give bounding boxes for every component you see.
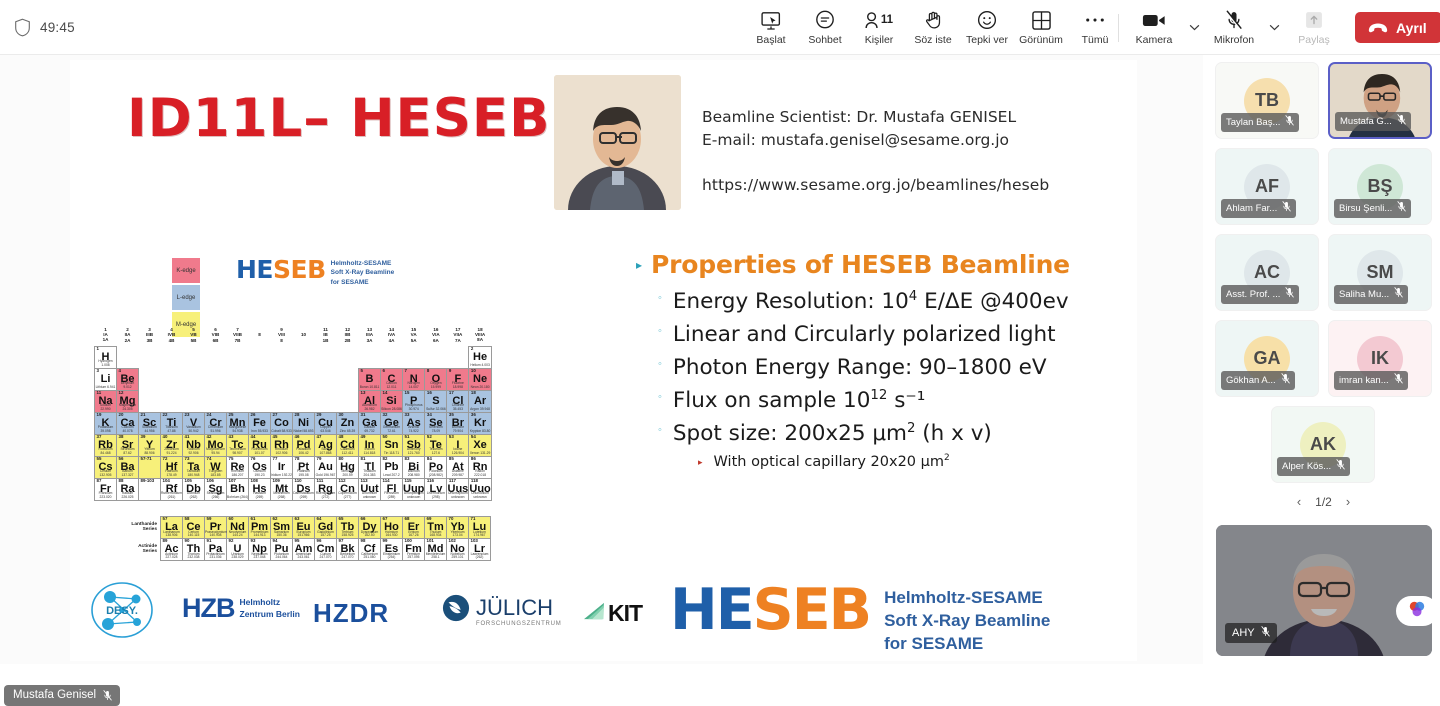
microphone-muted-icon	[1285, 287, 1294, 301]
element-Nb: 41NbNiobium 92.906	[183, 434, 205, 456]
participant-tile[interactable]: GAGökhan A...	[1215, 320, 1319, 397]
atomic-number: 103	[471, 539, 478, 543]
element-Es: 99EsEinsteinium (254)	[381, 539, 403, 561]
periodic-empty-cell	[403, 346, 425, 368]
element-name-mass: Cobalt 58.933	[271, 430, 292, 433]
circle-bullet-icon: ◦	[658, 354, 662, 375]
group-header: 11IB1B	[315, 324, 337, 346]
element-name-mass: Titanium 47.88	[161, 426, 182, 433]
microphone-label: Mikrofon	[1214, 34, 1254, 46]
element-Lu: 71LuLutetium 174.967	[469, 517, 491, 539]
element-P: 15PPhosphorus 30.974	[403, 390, 425, 412]
element-Db: 105DbDubnium (262)	[183, 478, 205, 500]
element-name-mass: Thorium 232.038	[183, 553, 204, 560]
element-Fr: 87FrFrancium 223.020	[95, 478, 117, 500]
atomic-number: 108	[251, 479, 258, 483]
kit-text: KIT	[608, 600, 642, 627]
grid-layout-icon	[1032, 10, 1051, 31]
element-name-mass: Uranium 238.029	[227, 553, 248, 560]
element-Y: 39YYttrium 88.906	[139, 434, 161, 456]
microphone-muted-icon	[1225, 10, 1243, 31]
raise-hand-button[interactable]: Söz iste	[906, 0, 960, 55]
element-name-mass: Holmium 164.930	[381, 531, 402, 538]
atomic-number: 75	[229, 457, 234, 461]
atomic-number: 60	[229, 517, 234, 521]
desy-logo: DESY.	[90, 581, 154, 639]
element-name-mass: Palladium 106.42	[293, 448, 314, 455]
hzdr-logo: HZDR	[313, 598, 389, 629]
element-Kr: 36KrKrypton 83.80	[469, 412, 491, 434]
element-Ac: 89AcActinium 227.028	[161, 539, 183, 561]
element-Hg: 80HgMercury 200.59	[337, 456, 359, 478]
view-button[interactable]: Görünüm	[1014, 0, 1068, 55]
element-At: 85AtAstatine 209.987	[447, 456, 469, 478]
element-name-mass: Copper 63.546	[315, 426, 336, 433]
element-name-mass: Curium 247.070	[315, 553, 336, 560]
element-name-mass: Praseodymium 140.908	[205, 531, 226, 538]
contact-line-1: Beamline Scientist: Dr. Mustafa GENISEL	[702, 106, 1122, 129]
element-name-mass: Chlorine 35.453	[447, 404, 468, 411]
element-name-mass: Dysprosium 162.50	[359, 531, 380, 538]
atomic-number: 47	[317, 435, 322, 439]
element-name-mass: Neptunium 237.048	[249, 553, 270, 560]
periodic-empty-cell	[227, 368, 249, 390]
element-name-mass: Phosphorus 30.974	[403, 404, 424, 411]
atomic-number: 34	[427, 413, 432, 417]
atomic-number: 6	[383, 369, 385, 373]
element-Tl: 81TlThallium 204.383	[359, 456, 381, 478]
element-symbol: S	[432, 395, 439, 407]
periodic-empty-cell	[249, 346, 271, 368]
group-header: 12IIB2B	[337, 324, 359, 346]
periodic-empty-cell	[139, 368, 161, 390]
shield-icon	[14, 18, 31, 37]
atomic-number: 39	[141, 435, 146, 439]
atomic-number: 16	[427, 391, 432, 395]
scientist-headshot-image	[554, 75, 681, 210]
ai-assistant-button[interactable]	[1396, 596, 1432, 626]
periodic-empty-cell	[337, 346, 359, 368]
atomic-number: 63	[295, 517, 300, 521]
atomic-number: 95	[295, 539, 300, 543]
atomic-number: 57	[163, 517, 168, 521]
microphone-muted-icon	[1281, 373, 1290, 387]
microphone-muted-icon	[1397, 201, 1406, 215]
circle-bullet-icon: ◦	[658, 321, 662, 342]
periodic-empty-cell	[271, 390, 293, 412]
camera-button[interactable]: Kamera	[1127, 0, 1181, 55]
element-Na: 11NaSodium 22.990	[95, 390, 117, 412]
atomic-number: 86	[471, 457, 476, 461]
atomic-number: 26	[251, 413, 256, 417]
periodic-empty-cell	[161, 390, 183, 412]
hangup-phone-icon	[1367, 20, 1389, 36]
atomic-number: 70	[449, 517, 454, 521]
lanthanide-series-label: LanthanideSeries	[120, 517, 161, 539]
heseb-logo-large: HESEB Helmholtz-SESAME Soft X-Ray Beamli…	[670, 582, 1050, 656]
element-Au: 79AuGold 196.967	[315, 456, 337, 478]
element-symbol: Fe	[253, 417, 266, 429]
element-Fl: 114FlFlerovium (289)	[381, 478, 403, 500]
element-Ag: 47AgSilver 107.868	[315, 434, 337, 456]
periodic-empty-cell	[359, 346, 381, 368]
atomic-number: 84	[427, 457, 432, 461]
element-H: 1HHydrogen 1.008	[95, 346, 117, 368]
atomic-number: 76	[251, 457, 256, 461]
element-name-mass: Promethium 144.913	[249, 531, 270, 538]
participant-tile[interactable]: AKAlper Kös...	[1271, 406, 1375, 483]
element-name-mass: Ununpentium unknown	[403, 492, 424, 499]
julich-text: JÜLICH	[476, 595, 562, 621]
element-name-mass: Scandium 44.956	[139, 426, 160, 433]
element-Mn: 25MnManganese 54.938	[227, 412, 249, 434]
share-start-label: Başlat	[756, 34, 785, 46]
element-Ge: 32GeGermanium 72.61	[381, 412, 403, 434]
element-Cm: 96CmCurium 247.070	[315, 539, 337, 561]
element-name-mass: Ruthenium 101.07	[249, 448, 270, 455]
atomic-number: 30	[339, 413, 344, 417]
element-symbol: Xe	[473, 439, 486, 451]
reactions-button[interactable]: Tepki ver	[960, 0, 1014, 55]
element-Sr: 38SrStrontium 87.62	[117, 434, 139, 456]
beamline-url[interactable]: https://www.sesame.org.jo/beamlines/hese…	[702, 174, 1122, 197]
atomic-number: 44	[251, 435, 256, 439]
atomic-number: 3	[97, 369, 99, 373]
element-Be: 4BeBeryllium 9.012	[117, 368, 139, 390]
group-header: 1IA1A	[95, 324, 117, 346]
atomic-number: 83	[405, 457, 410, 461]
self-view-tile[interactable]: AHY	[1216, 525, 1432, 656]
microphone-muted-icon	[1282, 201, 1291, 215]
atomic-number: 101	[427, 539, 434, 543]
periodic-empty-cell	[293, 368, 315, 390]
participant-name: Gökhan A...	[1226, 375, 1276, 386]
element-name-mass: Erbium 167.26	[403, 531, 424, 538]
element-Pb: 82PbLead 207.2	[381, 456, 403, 478]
atomic-number: 77	[273, 457, 278, 461]
atomic-number: 111	[317, 479, 324, 483]
element-name-mass: Barium 137.327	[117, 470, 138, 477]
atomic-number: 89-103	[141, 479, 155, 483]
element-Pa: 91PaProtactinium 231.036	[205, 539, 227, 561]
atomic-number: 115	[405, 479, 412, 483]
element-Fe: 26FeIron 55.933	[249, 412, 271, 434]
element-Hf: 72HfHafnium 178.49	[161, 456, 183, 478]
atomic-number: 71	[471, 517, 476, 521]
element-name-mass: Argon 39.948	[469, 408, 490, 411]
presentation-slide[interactable]: ID11L– HESEB Beamline Scientist: Dr. Mus…	[70, 60, 1137, 661]
presenter-name-chip: Mustafa Genisel	[4, 685, 120, 706]
element-name-mass: Helium 4.003	[469, 364, 490, 367]
element-symbol: Si	[386, 395, 396, 407]
participant-tile[interactable]: ACAsst. Prof. ...	[1215, 234, 1319, 311]
element-I: 53IIodine 126.904	[447, 434, 469, 456]
element-Cf: 98CfCalifornium 251.080	[359, 539, 381, 561]
periodic-empty-cell	[293, 390, 315, 412]
element-Am: 95AmAmericium 243.061	[293, 539, 315, 561]
element-La: 57LaLanthanum 138.906	[161, 517, 183, 539]
hzb-logo: HZB Helmholtz Zentrum Berlin	[182, 593, 300, 624]
participant-tile[interactable]: IKimran kan...	[1328, 320, 1432, 397]
periodic-empty-cell	[249, 368, 271, 390]
atomic-number: 67	[383, 517, 388, 521]
atomic-number: 19	[97, 413, 102, 417]
sub-bullet-item: ▸With optical capillary 20x20 μm2	[698, 453, 1116, 472]
element-Rh: 45RhRhodium 102.906	[271, 434, 293, 456]
element-symbol: Ne	[473, 373, 487, 385]
element-name-mass: Hydrogen 1.008	[95, 360, 116, 367]
element-Lv: 116LvLivermorium (298)	[425, 478, 447, 500]
bullet-item-text: Photon Energy Range: 90–1800 eV	[673, 354, 1047, 382]
svg-text:DESY.: DESY.	[106, 605, 138, 617]
element-Uuo: 118UuoUnunoctium unknown	[469, 478, 491, 500]
bullet-item: ◦Energy Resolution: 104 E/ΔE @400ev	[658, 288, 1116, 316]
chat-button[interactable]: Sohbet	[798, 0, 852, 55]
element-K: 19KPotassium 39.098	[95, 412, 117, 434]
element-name-mass: Osmium 190.23	[249, 470, 270, 477]
element-symbol: Sn	[384, 439, 398, 451]
slide-title: ID11L– HESEB	[127, 88, 551, 149]
element-name-mass: Lawrencium (262)	[469, 553, 490, 560]
people-icon: 11	[865, 10, 893, 31]
element-name-mass: Ytterbium 173.04	[447, 531, 468, 538]
atomic-number: 88	[119, 479, 124, 483]
element-name-mass: Rubidium 84.468	[95, 448, 116, 455]
element-name-mass: Copernicium (277)	[337, 492, 358, 499]
atomic-number: 61	[251, 517, 256, 521]
element-Ru: 44RuRuthenium 101.07	[249, 434, 271, 456]
participant-tile[interactable]: Mustafa G...	[1328, 62, 1432, 139]
element-name-mass: Oxygen 15.999	[425, 382, 446, 389]
periodic-empty-cell	[205, 368, 227, 390]
atomic-number: 99	[383, 539, 388, 543]
element-Uus: 117UusUnunseptium unknown	[447, 478, 469, 500]
element-symbol: Zn	[341, 417, 354, 429]
lanthanide-series: LanthanideSeries57LaLanthanum 138.90658C…	[120, 517, 491, 539]
atomic-number: 78	[295, 457, 300, 461]
julich-subtext: FORSCHUNGSZENTRUM	[476, 621, 562, 627]
element-name-mass: Europium 151.966	[293, 531, 314, 538]
element-symbol: B	[366, 373, 374, 385]
microphone-button[interactable]: Mikrofon	[1207, 0, 1261, 55]
atomic-number: 74	[207, 457, 212, 461]
atomic-number: 98	[361, 539, 366, 543]
element-Bh: 107BhBohrium (264)	[227, 478, 249, 500]
atomic-number: 37	[97, 435, 102, 439]
element-name-mass: Fermium 257.095	[403, 553, 424, 560]
element-name-mass: Calcium 40.078	[117, 426, 138, 433]
atomic-number: 33	[405, 413, 410, 417]
element-Cu: 29CuCopper 63.546	[315, 412, 337, 434]
participant-tile[interactable]: AFAhlam Far...	[1215, 148, 1319, 225]
ai-brain-icon	[1408, 600, 1426, 623]
periodic-empty-cell	[315, 346, 337, 368]
chevron-left-icon[interactable]: ‹	[1297, 494, 1301, 509]
participant-tile[interactable]: SMSaliha Mu...	[1328, 234, 1432, 311]
element-name-mass: Xenon 131.29	[469, 452, 490, 455]
periodic-empty-cell	[139, 390, 161, 412]
element-Tc: 43TcTechnetium 98.907	[227, 434, 249, 456]
atomic-number: 87	[97, 479, 102, 483]
element-Eu: 63EuEuropium 151.966	[293, 517, 315, 539]
element-89-103: 89-103	[139, 478, 161, 500]
heseb-logo-small-part1: HE	[236, 255, 273, 284]
periodic-empty-cell	[381, 346, 403, 368]
atomic-number: 53	[449, 435, 454, 439]
bullet-item-text: Linear and Circularly polarized light	[673, 321, 1056, 349]
element-As: 33AsArsenic 74.922	[403, 412, 425, 434]
atomic-number: 68	[405, 517, 410, 521]
participant-name-chip: Saliha Mu...	[1334, 285, 1408, 305]
element-name-mass: Technetium 98.907	[227, 448, 248, 455]
element-Ta: 73TaTantalum 180.948	[183, 456, 205, 478]
group-header: 14IVA4A	[381, 324, 403, 346]
shared-content-stage: ID11L– HESEB Beamline Scientist: Dr. Mus…	[0, 55, 1203, 664]
element-name-mass: Iridium 192.22	[271, 474, 292, 477]
group-header: 10	[293, 324, 315, 346]
element-name-mass: Zinc 65.39	[337, 430, 358, 433]
bullet-heading-text: Properties of HESEB Beamline	[651, 250, 1070, 279]
kit-logo: KIT	[582, 600, 642, 627]
periodic-row: 37RbRubidium 84.46838SrStrontium 87.6239…	[95, 434, 492, 456]
atomic-number: 38	[119, 435, 124, 439]
element-Ca: 20CaCalcium 40.078	[117, 412, 139, 434]
leave-label: Ayrıl	[1396, 20, 1427, 36]
element-name-mass: Rhenium 186.207	[227, 470, 248, 477]
participant-name: Asst. Prof. ...	[1226, 289, 1280, 300]
element-Uut: 113UutUnuntrium unknown	[359, 478, 381, 500]
element-Po: 84PoPolonium (208.982)	[425, 456, 447, 478]
heseb-small-sub1: Helmholtz-SESAME	[331, 259, 395, 268]
element-Mg: 12MgMagnesium 24.305	[117, 390, 139, 412]
element-name-mass: Francium 223.020	[95, 492, 116, 499]
atomic-number: 21	[141, 413, 146, 417]
element-name-mass: Seaborgium (266)	[205, 492, 226, 499]
element-name-mass: Magnesium 24.305	[117, 404, 138, 411]
element-symbol: Li	[101, 373, 111, 385]
reactions-label: Tepki ver	[966, 34, 1008, 46]
more-button[interactable]: Tümü	[1068, 0, 1122, 55]
atomic-number: 79	[317, 457, 322, 461]
atomic-number: 4	[119, 369, 121, 373]
element-Br: 35BrBromine 79.904	[447, 412, 469, 434]
periodic-empty-cell	[447, 346, 469, 368]
atomic-number: 118	[471, 479, 478, 483]
share-button[interactable]: Paylaş	[1287, 0, 1341, 55]
element-Tb: 65TbTerbium 158.925	[337, 517, 359, 539]
circle-bullet-icon: ◦	[658, 420, 662, 441]
atomic-number: 66	[361, 517, 366, 521]
atomic-number: 114	[383, 479, 390, 483]
element-B: 5BBoron 10.811	[359, 368, 381, 390]
element-name-mass: Silver 107.868	[315, 448, 336, 455]
atomic-number: 91	[207, 539, 212, 543]
element-Lr: 103LrLawrencium (262)	[469, 539, 491, 561]
periodic-row: 19KPotassium 39.09820CaCalcium 40.07821S…	[95, 412, 492, 434]
heseb-large-sub2: Soft X-Ray Beamline	[884, 610, 1050, 633]
element-name-mass: Mendelevium 258.1	[425, 553, 446, 560]
element-name-mass: Ununoctium unknown	[469, 492, 490, 499]
atomic-number: 10	[471, 369, 476, 373]
element-name-mass: Bromine 79.904	[447, 426, 468, 433]
element-Se: 34SeSelenium 78.09	[425, 412, 447, 434]
element-W: 74WTungsten 183.85	[205, 456, 227, 478]
element-Er: 68ErErbium 167.26	[403, 517, 425, 539]
element-Rn: 86RnRadon 222.018	[469, 456, 491, 478]
element-O: 8OOxygen 15.999	[425, 368, 447, 390]
element-name-mass: Lithium 6.941	[95, 386, 116, 389]
periodic-empty-cell	[337, 368, 359, 390]
periodic-empty-cell	[183, 390, 205, 412]
actinide-series-label: ActinideSeries	[120, 539, 161, 561]
periodic-empty-cell	[271, 368, 293, 390]
element-name-mass: Sulfur 32.066	[425, 408, 446, 411]
atomic-number: 24	[207, 413, 212, 417]
element-name-mass: Protactinium 231.036	[205, 553, 226, 560]
element-name-mass: Nitrogen 14.007	[403, 382, 424, 389]
element-Ne: 10NeNeon 20.180	[469, 368, 491, 390]
atomic-number: 28	[295, 413, 300, 417]
element-name-mass: Astatine 209.987	[447, 470, 468, 477]
periodic-empty-cell	[271, 346, 293, 368]
atomic-number: 54	[471, 435, 476, 439]
periodic-empty-cell	[337, 390, 359, 412]
camera-options-chevron-down-icon[interactable]	[1181, 0, 1207, 55]
atomic-number: 27	[273, 413, 278, 417]
element-Cn: 112CnCopernicium (277)	[337, 478, 359, 500]
element-name-mass: Meitnerium (268)	[271, 492, 292, 499]
leave-meeting-button[interactable]: Ayrıl	[1355, 12, 1440, 43]
element-name-mass: Iron 55.933	[249, 430, 270, 433]
microphone-options-chevron-down-icon[interactable]	[1261, 0, 1287, 55]
atomic-number: 100	[405, 539, 412, 543]
element-name-mass: Rutherfordium (261)	[161, 492, 182, 499]
microphone-muted-icon	[103, 690, 112, 701]
atomic-number: 45	[273, 435, 278, 439]
atomic-number: 92	[229, 539, 234, 543]
element-name-mass: Yttrium 88.906	[139, 448, 160, 455]
element-Tm: 69TmThulium 168.934	[425, 517, 447, 539]
present-screen-icon	[761, 10, 781, 31]
atomic-number: 42	[207, 435, 212, 439]
atomic-number: 40	[163, 435, 168, 439]
chevron-right-icon[interactable]: ›	[1346, 494, 1350, 509]
self-view-name-chip: AHY	[1225, 623, 1277, 643]
participants-label: Kişiler	[865, 34, 894, 46]
atomic-number: 105	[185, 479, 192, 483]
element-57-71: 57-71	[139, 456, 161, 478]
periodic-empty-cell	[205, 390, 227, 412]
element-Al: 13AlAluminum 26.982	[359, 390, 381, 412]
participants-button[interactable]: 11 Kişiler	[852, 0, 906, 55]
share-label: Paylaş	[1298, 34, 1330, 46]
group-header: 18VIIIA8A	[469, 324, 491, 346]
element-name-mass: Bismuth 208.980	[403, 470, 424, 477]
element-Sn: 50SnTin 118.71	[381, 434, 403, 456]
bullet-item: ◦Photon Energy Range: 90–1800 eV	[658, 354, 1116, 382]
element-name-mass: Tellurium 127.6	[425, 448, 446, 455]
participant-tile[interactable]: TBTaylan Baş...	[1215, 62, 1319, 139]
legend-l-edge: L-edge	[172, 285, 200, 310]
atomic-number: 56	[119, 457, 124, 461]
element-V: 23VVanadium 50.942	[183, 412, 205, 434]
participant-name: Birsu Şenli...	[1339, 203, 1392, 214]
participant-tile[interactable]: BŞBirsu Şenli...	[1328, 148, 1432, 225]
element-Ds: 110DsDarmstadtium (269)	[293, 478, 315, 500]
share-start-button[interactable]: Başlat	[744, 0, 798, 55]
element-Te: 52TeTellurium 127.6	[425, 434, 447, 456]
element-Si: 14SiSilicon 28.086	[381, 390, 403, 412]
